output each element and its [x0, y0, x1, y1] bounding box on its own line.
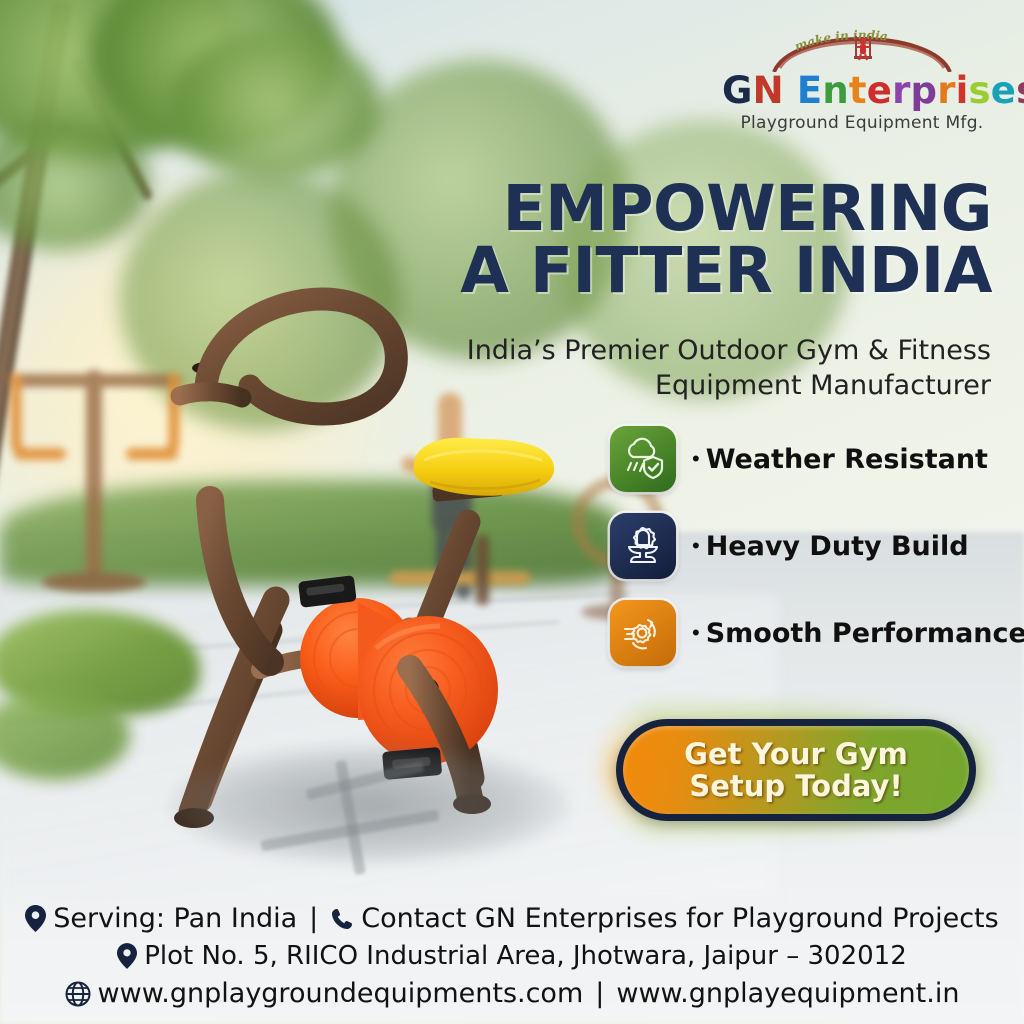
swing-child-icon — [854, 36, 872, 60]
page-title: EMPOWERING A FITTER INDIA — [392, 178, 992, 301]
footer-separator-2: | — [590, 978, 609, 1009]
brand-letter: s — [1016, 72, 1024, 109]
anvil-gear-glyph — [621, 524, 665, 568]
arc-graphic: make in india — [722, 22, 1002, 72]
brand-name: GN Enterprises — [722, 72, 1002, 109]
brand-letter — [784, 72, 797, 109]
weather-shield-icon — [610, 426, 676, 492]
feature-label: Heavy Duty Build — [706, 531, 969, 562]
feature-item-weather-resistant: • Weather Resistant — [610, 426, 1010, 492]
brand-tagline: Playground Equipment Mfg. — [722, 113, 1002, 133]
brand-letter: t — [849, 72, 867, 109]
feature-list: • Weather Resistant • Heavy Duty Build — [610, 426, 1010, 687]
address-text: Plot No. 5, RIICO Industrial Area, Jhotw… — [144, 941, 907, 971]
feature-bullet: • — [692, 535, 700, 557]
headline-line-2: A FITTER INDIA — [392, 240, 992, 302]
footer-row-websites: www.gnplaygroundequipments.com | www.gnp… — [0, 978, 1024, 1009]
footer-separator-1: | — [304, 903, 323, 934]
weather-shield-glyph — [621, 437, 665, 481]
feature-label: Weather Resistant — [706, 444, 988, 475]
website-2[interactable]: www.gnplayequipment.in — [616, 978, 959, 1009]
feature-bullet: • — [692, 448, 700, 470]
subheading: India’s Premier Outdoor Gym & Fitness Eq… — [391, 333, 991, 403]
brand-letter: r — [937, 72, 955, 109]
brand-letter: n — [822, 72, 849, 109]
feature-bullet: • — [692, 622, 700, 644]
subheading-line-1: India’s Premier Outdoor Gym & Fitness — [391, 333, 991, 368]
anvil-gear-icon — [610, 513, 676, 579]
subheading-line-2: Equipment Manufacturer — [391, 368, 991, 403]
cta-container: Get Your Gym Setup Today! — [616, 719, 976, 821]
product-shadow — [170, 745, 570, 865]
cta-line-2: Setup Today! — [689, 770, 902, 802]
brand-letter: s — [969, 72, 991, 109]
footer-row-address: Plot No. 5, RIICO Industrial Area, Jhotw… — [0, 941, 1024, 971]
cta-line-1: Get Your Gym — [684, 738, 908, 770]
contact-text: Contact GN Enterprises for Playground Pr… — [361, 903, 998, 934]
map-pin-icon — [25, 905, 46, 932]
get-your-gym-setup-button[interactable]: Get Your Gym Setup Today! — [616, 719, 976, 821]
brand-letter: p — [911, 72, 938, 109]
website-1[interactable]: www.gnplaygroundequipments.com — [98, 978, 584, 1009]
brand-letter: r — [892, 72, 910, 109]
svg-text:make in india: make in india — [793, 28, 889, 54]
make-in-india-arc: make in india — [722, 22, 1002, 72]
footer: Serving: Pan India | Contact GN Enterpri… — [0, 903, 1024, 1016]
phone-icon — [330, 907, 354, 931]
brand-letter: N — [753, 72, 784, 109]
serving-text: Serving: Pan India — [53, 903, 297, 934]
arc-text: make in india — [793, 28, 889, 54]
gear-speed-icon — [610, 600, 676, 666]
brand-letter: e — [991, 72, 1016, 109]
feature-label: Smooth Performance — [706, 618, 1024, 649]
poster-canvas: make in india GN Enterprises Playground … — [0, 0, 1024, 1024]
company-logo[interactable]: make in india GN Enterprises Playground … — [722, 22, 1002, 133]
brand-letter: e — [867, 72, 892, 109]
brand-letter: E — [797, 72, 822, 109]
map-pin-icon — [117, 943, 137, 969]
feature-item-smooth-performance: • Smooth Performance — [610, 600, 1010, 666]
headline-line-1: EMPOWERING — [392, 178, 992, 240]
brand-letter: i — [956, 72, 969, 109]
footer-row-serving-contact: Serving: Pan India | Contact GN Enterpri… — [0, 903, 1024, 934]
globe-icon — [65, 981, 91, 1007]
brand-letter: G — [722, 72, 753, 109]
gear-speed-glyph — [621, 611, 665, 655]
tree-canopy-foreground — [170, 30, 380, 180]
feature-item-heavy-duty-build: • Heavy Duty Build — [610, 513, 1010, 579]
